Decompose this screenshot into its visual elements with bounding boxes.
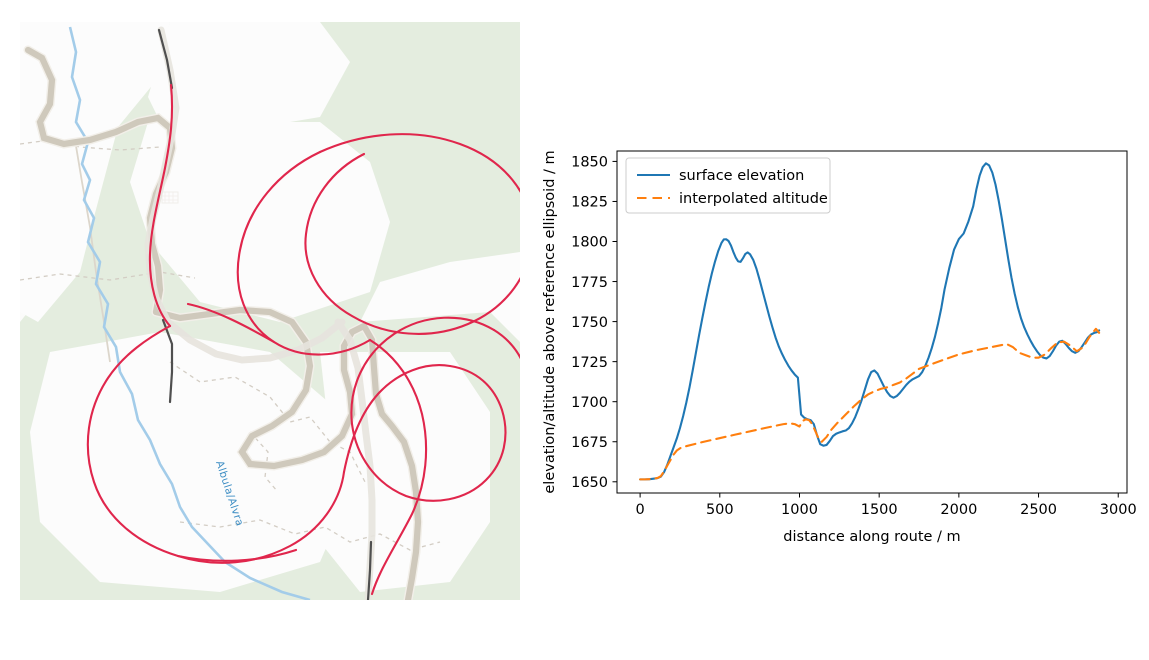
x-tick-label: 2500: [1020, 502, 1057, 518]
map-panel[interactable]: Albula/Alvra: [20, 22, 520, 600]
y-tick-label: 1800: [571, 235, 608, 251]
x-tick-label: 500: [706, 502, 734, 518]
x-tick-label: 2000: [940, 502, 977, 518]
chart-canvas: 0500100015002000250030001650167517001725…: [530, 110, 1140, 580]
x-tick-label: 0: [635, 502, 644, 518]
y-tick-label: 1750: [571, 315, 608, 331]
y-tick-label: 1725: [571, 355, 608, 371]
series-2-line: [640, 329, 1099, 480]
screenshot-root: Albula/Alvra 050010001500200025003000165…: [0, 0, 1149, 660]
y-tick-label: 1775: [571, 275, 608, 291]
elevation-profile-chart[interactable]: 0500100015002000250030001650167517001725…: [530, 110, 1140, 580]
legend-label-2: interpolated altitude: [679, 191, 828, 207]
x-axis-title: distance along route / m: [783, 529, 960, 545]
y-tick-label: 1700: [571, 395, 608, 411]
x-tick-label: 1000: [781, 502, 818, 518]
map-canvas[interactable]: Albula/Alvra: [20, 22, 520, 600]
y-tick-label: 1825: [571, 195, 608, 211]
x-tick-label: 1500: [861, 502, 898, 518]
legend-label-1: surface elevation: [679, 168, 804, 184]
y-tick-label: 1650: [571, 475, 608, 491]
x-tick-label: 3000: [1100, 502, 1137, 518]
y-axis-title: elevation/altitude above reference ellip…: [542, 150, 558, 493]
y-tick-label: 1675: [571, 435, 608, 451]
y-tick-label: 1850: [571, 155, 608, 171]
